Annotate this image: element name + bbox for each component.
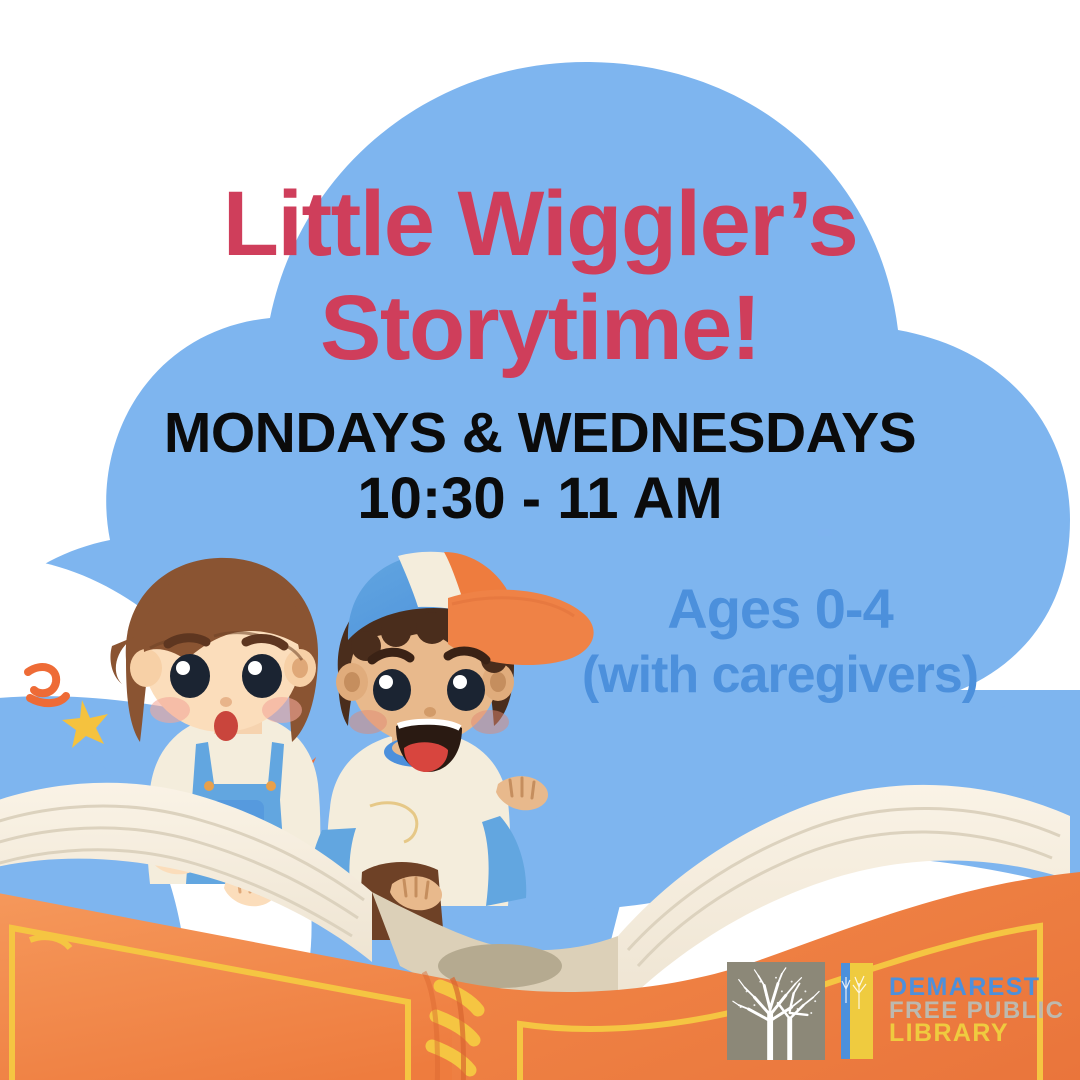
children-reading-illustration xyxy=(0,0,1080,1080)
decor-yellow-star xyxy=(62,700,108,748)
ages-note: (with caregivers) xyxy=(520,642,1040,708)
logo-wordmark: DEMAREST FREE PUBLIC LIBRARY xyxy=(889,976,1064,1046)
ages-range: Ages 0-4 xyxy=(520,576,1040,642)
event-title: Little Wiggler’s Storytime! xyxy=(0,172,1080,380)
title-line-2: Storytime! xyxy=(0,276,1080,380)
schedule-time: 10:30 - 11 AM xyxy=(0,466,1080,532)
title-line-1: Little Wiggler’s xyxy=(0,172,1080,276)
schedule-days: MONDAYS & WEDNESDAYS xyxy=(0,400,1080,466)
event-schedule: MONDAYS & WEDNESDAYS 10:30 - 11 AM xyxy=(0,400,1080,532)
logo-color-bar xyxy=(841,963,873,1059)
decor-blue-dash xyxy=(818,529,832,536)
logo-line-library: LIBRARY xyxy=(889,1022,1064,1046)
tree-logo-icon xyxy=(727,962,825,1060)
decor-orange-swoosh xyxy=(28,667,66,703)
library-logo: DEMAREST FREE PUBLIC LIBRARY xyxy=(727,955,1037,1067)
ages-info: Ages 0-4 (with caregivers) xyxy=(520,576,1040,708)
poster-canvas: Little Wiggler’s Storytime! MONDAYS & WE… xyxy=(0,0,1080,1080)
